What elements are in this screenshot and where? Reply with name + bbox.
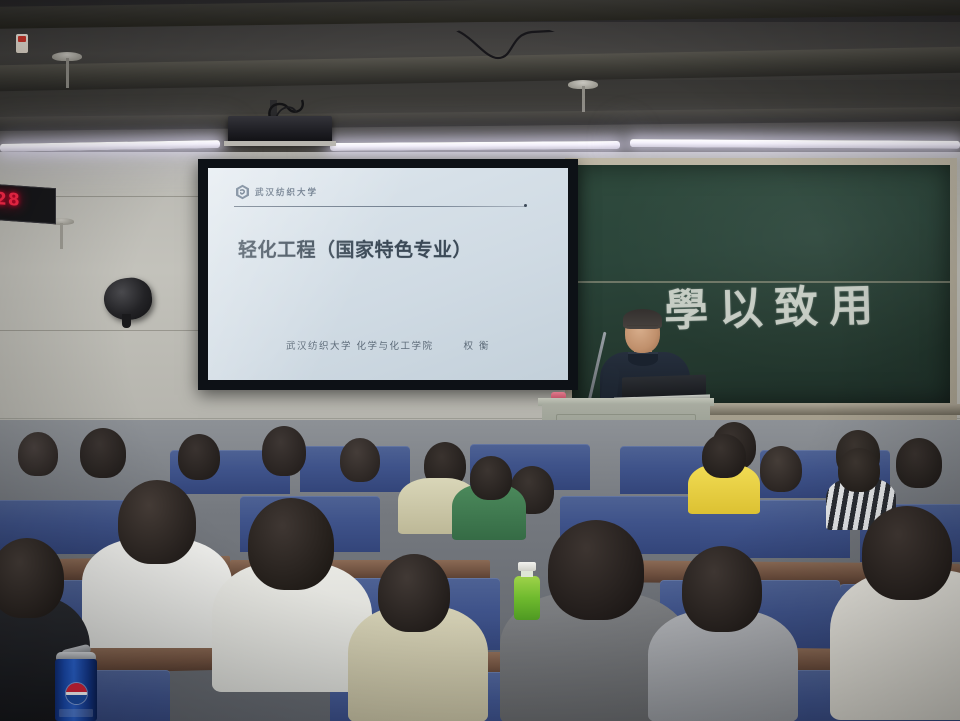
slide-divider-rule <box>234 206 526 207</box>
student-head <box>760 446 802 492</box>
university-emblem-icon <box>235 184 250 200</box>
bottle-label-logo <box>18 36 26 42</box>
student-head <box>896 438 942 488</box>
audience-area <box>0 420 960 721</box>
student-head-foreground <box>682 546 762 632</box>
wall-speaker-mount <box>122 314 131 328</box>
pendant-rod <box>60 223 63 249</box>
can-body <box>55 659 97 721</box>
projector-base-plate <box>224 141 336 146</box>
lecturer-collar <box>628 352 658 366</box>
blackboard-chalk-text: 學以致用 <box>663 269 885 339</box>
bottle-cap <box>518 562 536 571</box>
student-head <box>80 428 126 478</box>
wall-panel-seam <box>0 330 200 331</box>
lecturer-glasses <box>627 325 658 331</box>
student-head <box>838 448 880 492</box>
fluorescent-tube <box>630 139 960 149</box>
student-head <box>18 432 58 476</box>
pendant-rod <box>66 58 69 88</box>
projection-screen: 武汉纺织大学 轻化工程（国家特色专业） 武汉纺织大学 化学与化工学院 权 衡 <box>208 168 568 380</box>
student-head-foreground <box>862 506 952 600</box>
led-display-text: 28 <box>0 189 21 211</box>
pendant-rod <box>582 86 585 112</box>
student-head-foreground <box>378 554 450 632</box>
bottle-body <box>514 576 540 620</box>
student-head <box>178 434 220 480</box>
student-head <box>702 434 746 478</box>
beverage-bottle <box>513 562 541 620</box>
can-wordmark <box>59 709 93 717</box>
soda-can <box>55 652 97 721</box>
student-head-foreground <box>248 498 334 590</box>
ceiling-cable <box>440 24 570 68</box>
student-head <box>262 426 306 476</box>
student-head-foreground <box>548 520 644 620</box>
pepsi-logo-icon <box>66 683 87 704</box>
led-display-sign: 28 <box>0 184 56 224</box>
slide-title: 轻化工程（国家特色专业） <box>238 235 472 262</box>
university-logo-text: 武汉纺织大学 <box>255 186 318 198</box>
lecture-hall-photo: 28 學以致用 武汉纺织大学 轻化工程（国家特色专业） <box>0 0 960 721</box>
student-head <box>340 438 380 482</box>
projector <box>228 116 332 143</box>
slide-footer: 武汉纺织大学 化学与化工学院 权 衡 <box>208 336 568 354</box>
slide-author: 权 衡 <box>464 338 491 352</box>
slide-affiliation: 武汉纺织大学 化学与化工学院 <box>286 338 434 352</box>
slide-divider-dot <box>524 204 527 207</box>
slide-logo: 武汉纺织大学 <box>235 184 318 200</box>
bottle-neck <box>521 571 533 577</box>
student-head <box>470 456 512 500</box>
student-head-foreground <box>118 480 196 564</box>
